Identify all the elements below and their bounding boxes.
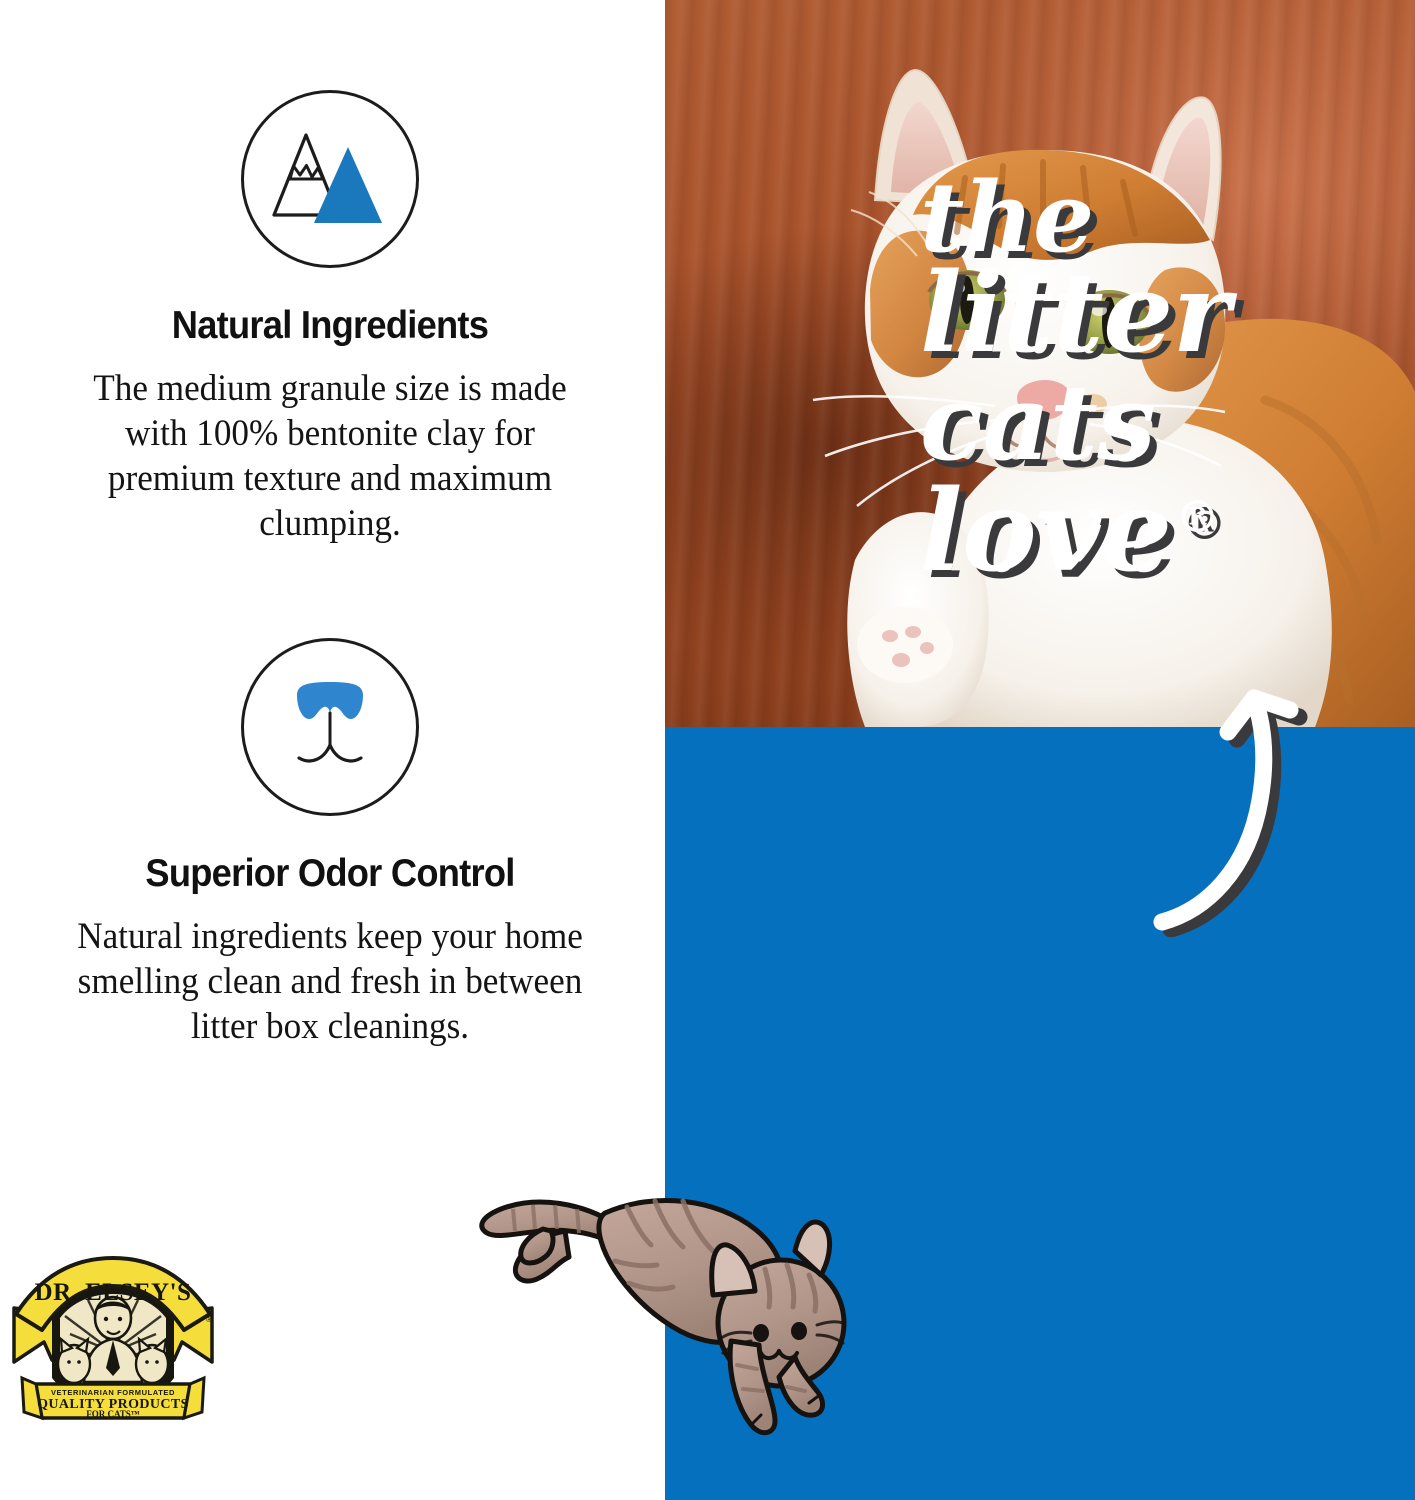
tagline-line-3: cats: [920, 372, 1390, 475]
cat-nose-icon: [241, 638, 419, 816]
logo-cat-left: [58, 1339, 90, 1383]
dr-elseys-logo-svg: DR. ELSEY'S ® VETERINARIAN FORMULATED QU…: [8, 1256, 218, 1434]
cat-nose-icon-svg: [271, 673, 389, 781]
tagline-line-4-wrap: love®: [920, 477, 1390, 588]
logo-cat-right: [136, 1339, 168, 1383]
product-feature-panel: Natural Ingredients The medium granule s…: [0, 0, 1415, 1500]
logo-tagline-3: FOR CATS™: [86, 1409, 140, 1419]
dr-elseys-logo: DR. ELSEY'S ® VETERINARIAN FORMULATED QU…: [8, 1256, 218, 1434]
mountain-icon: [241, 90, 419, 268]
brand-name: DR. ELSEY'S: [35, 1279, 192, 1306]
mountain-icon-svg: [270, 127, 390, 231]
feature-block-odor-control: Superior Odor Control Natural ingredient…: [0, 638, 660, 1049]
leaping-cat-illustration: [465, 1165, 855, 1440]
brand-name-text: DR. ELSEY'S: [35, 1279, 192, 1306]
feature-body: Natural ingredients keep your home smell…: [64, 914, 596, 1049]
tagline-lockup: the litter cats love®: [920, 170, 1390, 600]
feature-block-natural-ingredients: Natural Ingredients The medium granule s…: [0, 90, 660, 547]
registered-mark: ®: [206, 1315, 212, 1324]
registered-trademark-mark: ®: [1176, 492, 1220, 543]
leaping-cat-svg: [465, 1165, 855, 1440]
feature-title: Superior Odor Control: [23, 852, 637, 896]
feature-body: The medium granule size is made with 100…: [64, 366, 596, 547]
tagline-line-2: litter: [920, 259, 1390, 368]
logo-tagline-1: VETERINARIAN FORMULATED: [51, 1388, 175, 1397]
feature-title: Natural Ingredients: [23, 304, 637, 348]
tagline-line-4: love: [920, 466, 1172, 597]
